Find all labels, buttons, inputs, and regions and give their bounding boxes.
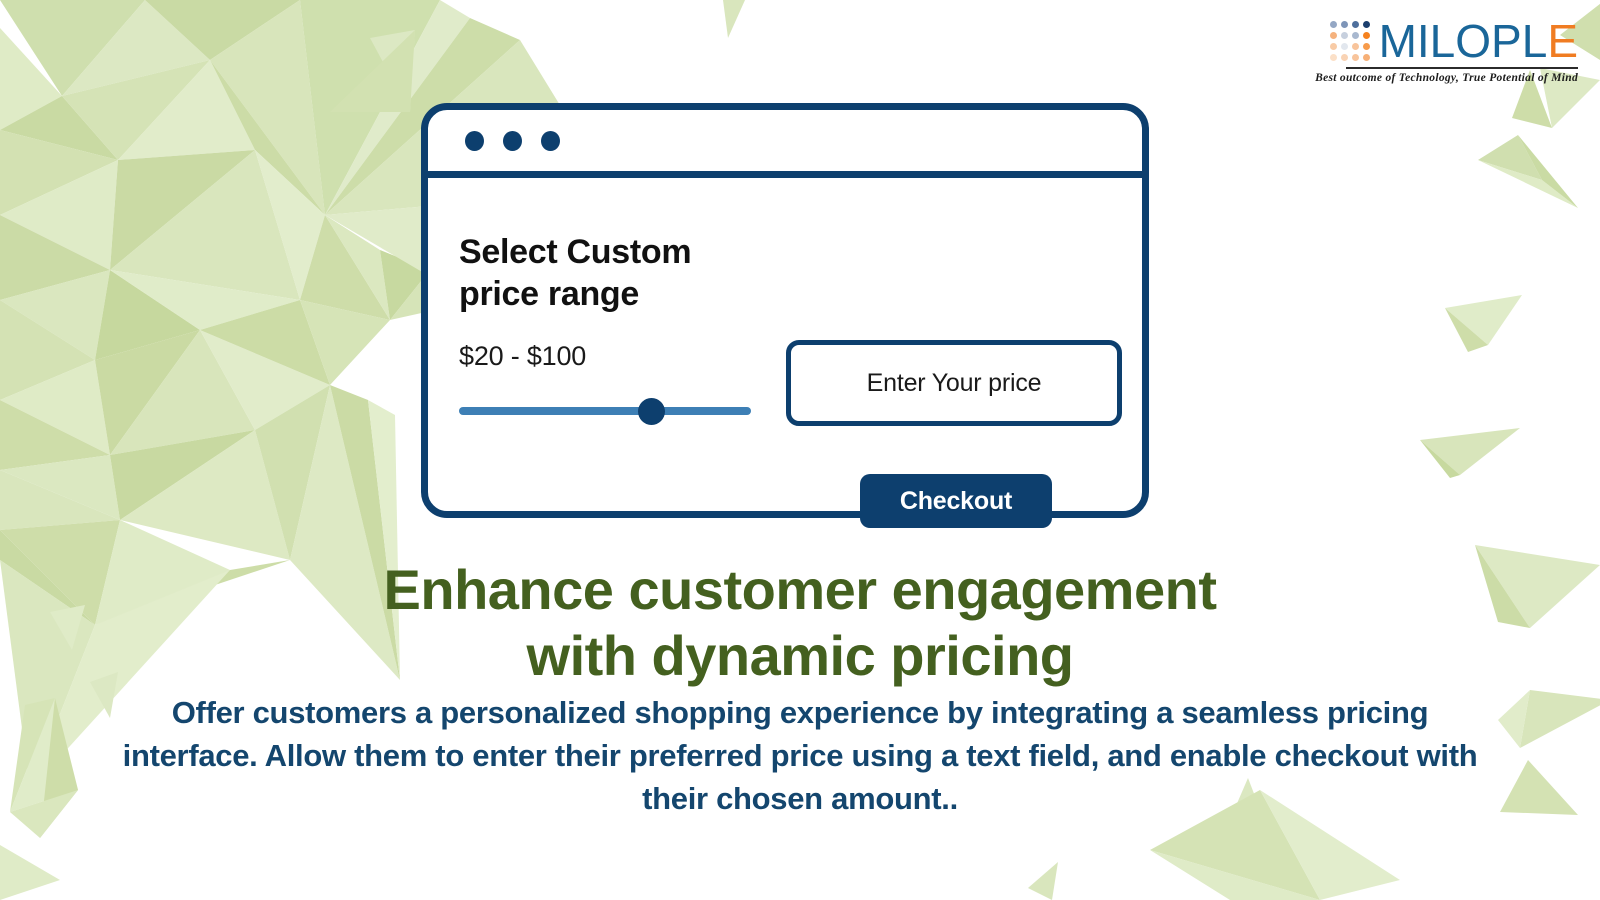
browser-window-mockup: Select Custom price range $20 - $100 Ent… [421,103,1149,518]
slider-thumb[interactable] [638,398,665,425]
brand-wordmark: MILOPLE [1379,18,1578,64]
price-range-value: $20 - $100 [459,341,759,372]
brand-logo: MILOPLE Best outcome of Technology, True… [1315,18,1578,84]
price-range-panel: Select Custom price range $20 - $100 [459,232,759,424]
wordmark-accent: E [1547,15,1578,67]
logo-divider [1346,67,1578,69]
window-dot-maximize-icon[interactable] [541,131,560,151]
slider-track[interactable] [459,407,751,415]
headline: Enhance customer engagement with dynamic… [0,557,1600,688]
window-dot-minimize-icon[interactable] [503,131,522,151]
price-input-placeholder: Enter Your price [867,369,1042,398]
price-range-slider[interactable] [459,398,751,424]
price-input-field[interactable]: Enter Your price [786,340,1122,426]
wordmark-main: MILOPL [1379,15,1548,67]
browser-titlebar [428,110,1142,178]
browser-content: Select Custom price range $20 - $100 Ent… [428,178,1142,511]
subheadline-copy: Offer customers a personalized shopping … [110,692,1490,820]
milople-dotgrid-icon [1330,21,1370,61]
checkout-button[interactable]: Checkout [860,474,1052,528]
price-range-title: Select Custom price range [459,232,759,316]
window-dot-close-icon[interactable] [465,131,484,151]
brand-tagline: Best outcome of Technology, True Potenti… [1315,72,1578,84]
